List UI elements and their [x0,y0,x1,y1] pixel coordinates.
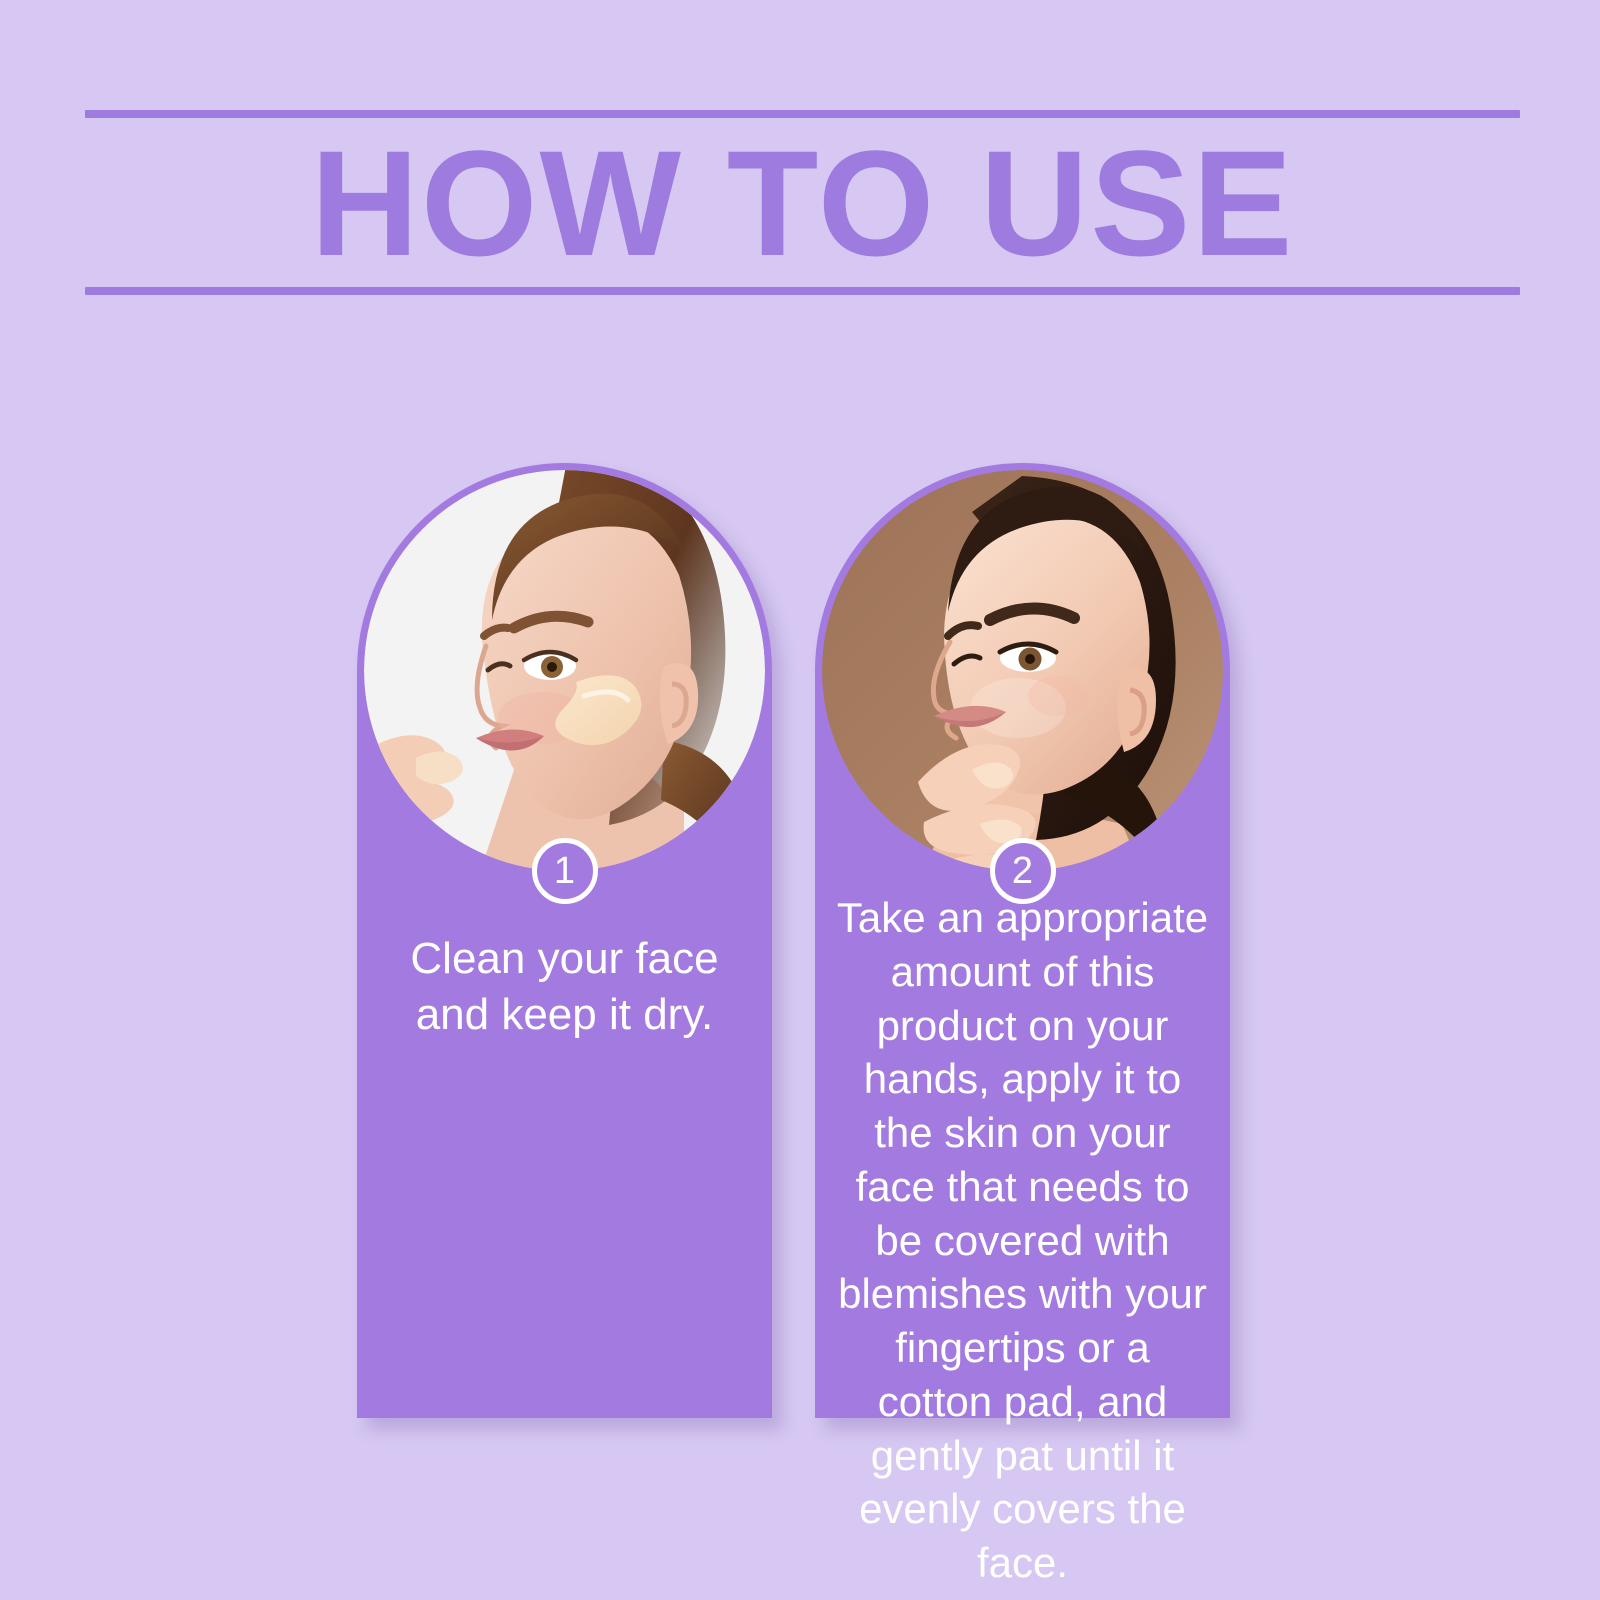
step-2-description: Take an appropriate amount of this produ… [833,891,1212,1590]
woman-applying-foundation-image [364,470,765,871]
step-card-1[interactable]: 1 Clean your face and keep it dry. [357,463,772,1418]
page-title: HOW TO USE [85,128,1520,278]
step-2-photo [822,470,1223,871]
step-1-description: Clean your face and keep it dry. [375,931,754,1044]
step-1-photo [364,470,765,871]
woman-touching-chin-image [822,470,1223,871]
step-card-2[interactable]: 2 Take an appropriate amount of this pro… [815,463,1230,1418]
page-header: HOW TO USE [85,110,1520,295]
steps-container: 1 Clean your face and keep it dry. [0,463,1600,1423]
step-1-number-badge: 1 [532,838,598,904]
header-bottom-rule [85,287,1520,295]
header-top-rule [85,110,1520,118]
